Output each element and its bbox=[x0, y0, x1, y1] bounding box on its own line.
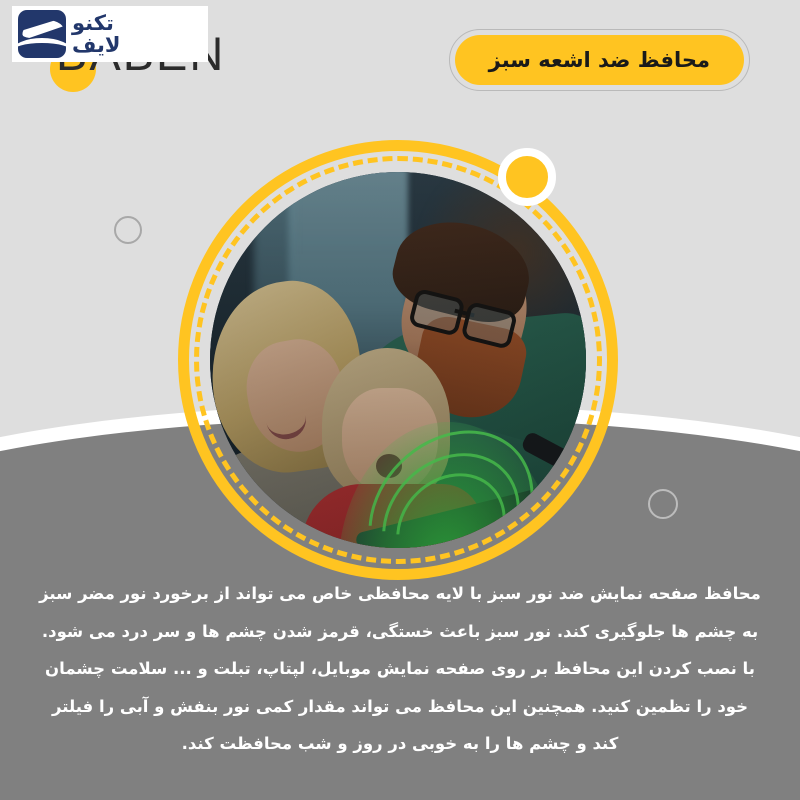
photo-image bbox=[210, 172, 586, 548]
accent-dot-marker bbox=[498, 148, 556, 206]
description-block: محافظ صفحه نمایش ضد نور سبز با لایه محاف… bbox=[0, 575, 800, 763]
logo-line-1: تکنو bbox=[72, 13, 114, 34]
technolife-logo[interactable]: تکنو لایف bbox=[12, 6, 208, 62]
logo-text-group: تکنو لایف bbox=[72, 13, 121, 56]
banner-canvas: BABEN تکنو لایف محافظ ضد اشعه سبز محافظ … bbox=[0, 0, 800, 800]
badge-outline: محافظ ضد اشعه سبز bbox=[449, 29, 750, 91]
logo-line-2: لایف bbox=[72, 35, 121, 56]
product-photo-circle bbox=[178, 140, 618, 580]
decorative-circle-outline-bottom-right bbox=[648, 489, 678, 519]
logo-mark-icon bbox=[18, 10, 66, 58]
decorative-circle-outline-top-left bbox=[114, 216, 142, 244]
feature-badge[interactable]: محافظ ضد اشعه سبز bbox=[455, 35, 744, 85]
family-tablet-scene bbox=[210, 172, 586, 548]
description-text: محافظ صفحه نمایش ضد نور سبز با لایه محاف… bbox=[38, 575, 762, 763]
